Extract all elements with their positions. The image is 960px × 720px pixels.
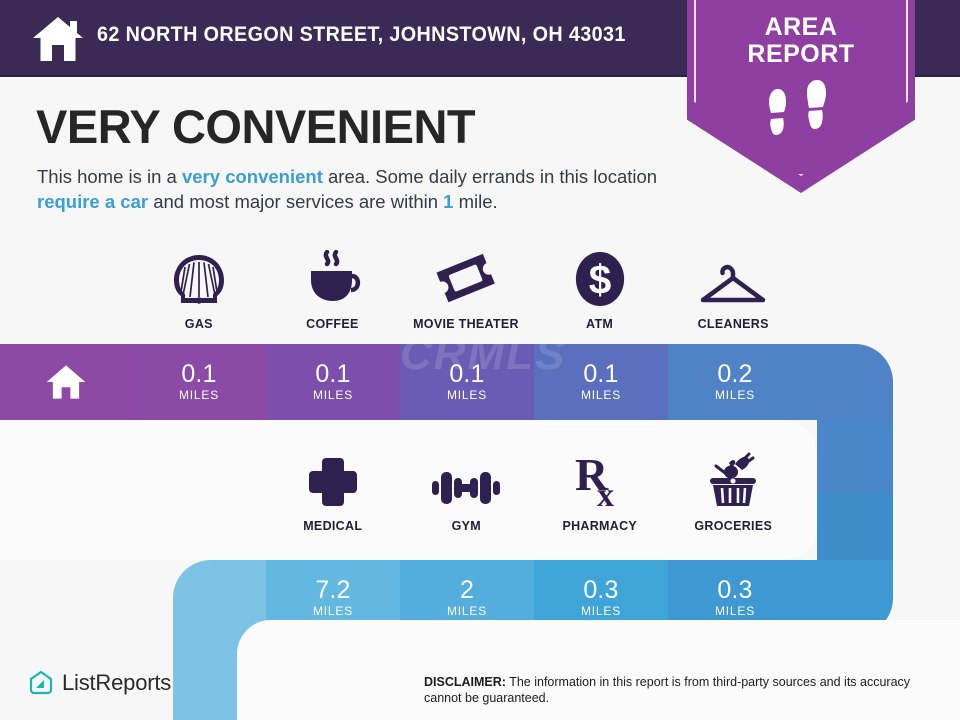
area-report-badge: AREA REPORT <box>687 0 915 193</box>
category-label: MEDICAL <box>303 519 362 533</box>
page-title: VERY CONVENIENT <box>36 101 475 153</box>
subtitle-part-2: area. Some daily errands in this locatio… <box>323 166 657 187</box>
distance-unit: MILES <box>715 604 755 619</box>
badge-title-line2: REPORT <box>687 41 915 68</box>
distance-segment: 0.1MILES <box>534 344 668 420</box>
page-subtitle: This home is in a very convenient area. … <box>37 164 677 214</box>
disclaimer-label: DISCLAIMER: <box>424 675 506 689</box>
icon-row-secondary: MEDICAL GYM <box>266 448 800 533</box>
area-report-page: 62 NORTH OREGON STREET, JOHNSTOWN, OH 43… <box>0 0 960 720</box>
medical-cross-icon <box>305 448 361 510</box>
distance-segment: 0.1MILES <box>132 344 266 420</box>
category-groceries: GROCERIES <box>667 448 801 533</box>
category-pharmacy: R x PHARMACY <box>533 448 667 533</box>
grocery-basket-icon <box>702 448 764 510</box>
distance-segment: 0.1MILES <box>400 344 534 420</box>
category-label: GAS <box>185 317 213 331</box>
gas-shell-icon <box>171 246 227 308</box>
svg-text:$: $ <box>588 256 611 302</box>
category-label: ATM <box>586 317 613 331</box>
footer: ListReports DISCLAIMER: The information … <box>0 628 960 720</box>
category-coffee: COFFEE <box>266 246 400 331</box>
svg-text:x: x <box>597 477 614 510</box>
distance-segment: 0.1MILES <box>266 344 400 420</box>
icon-row-primary: GAS COFFEE <box>132 246 800 331</box>
category-label: GYM <box>452 519 481 533</box>
category-label: MOVIE THEATER <box>413 317 519 331</box>
subtitle-part-3: require a car <box>37 191 148 212</box>
ribbon-top-tail <box>802 344 893 420</box>
distance-unit: MILES <box>313 604 353 619</box>
distance-value: 7.2 <box>315 577 350 603</box>
listreports-logo-text: ListReports <box>62 670 171 696</box>
subtitle-part-1: very convenient <box>182 166 323 187</box>
category-label: COFFEE <box>306 317 359 331</box>
disclaimer-text: DISCLAIMER: The information in this repo… <box>424 675 924 706</box>
home-icon <box>30 11 86 67</box>
listreports-house-icon <box>28 670 54 696</box>
category-atm: $ ATM <box>533 246 667 331</box>
badge-title: AREA REPORT <box>687 14 915 68</box>
distance-unit: MILES <box>715 388 755 403</box>
category-movie-theater: MOVIE THEATER <box>399 246 533 331</box>
distance-value: 0.1 <box>315 361 350 387</box>
distance-value: 0.1 <box>449 361 484 387</box>
distance-value: 0.2 <box>717 361 752 387</box>
badge-title-line1: AREA <box>687 14 915 41</box>
distance-unit: MILES <box>447 388 487 403</box>
listreports-logo[interactable]: ListReports <box>28 670 171 696</box>
category-label: PHARMACY <box>562 519 637 533</box>
distance-segment: 0.2MILES <box>668 344 802 420</box>
subtitle-part-0: This home is in a <box>37 166 182 187</box>
dumbbell-icon <box>430 448 502 510</box>
distance-bar-primary: 0.1MILES0.1MILES0.1MILES0.1MILES0.2MILES <box>0 344 893 420</box>
distance-value: 0.1 <box>583 361 618 387</box>
category-cleaners: CLEANERS <box>666 246 800 331</box>
distance-value: 0.1 <box>181 361 216 387</box>
category-gas: GAS <box>132 246 266 331</box>
distance-unit: MILES <box>313 388 353 403</box>
distance-value: 0.3 <box>583 577 618 603</box>
distance-unit: MILES <box>581 388 621 403</box>
home-origin-segment <box>0 344 132 420</box>
category-medical: MEDICAL <box>266 448 400 533</box>
subtitle-part-6: mile. <box>453 191 497 212</box>
distance-unit: MILES <box>447 604 487 619</box>
ribbon-connector-lower <box>817 494 893 562</box>
home-icon <box>45 361 87 403</box>
dollar-atm-icon: $ <box>573 246 627 308</box>
category-label: CLEANERS <box>698 317 769 331</box>
distance-unit: MILES <box>179 388 219 403</box>
category-gym: GYM <box>400 448 534 533</box>
distance-value: 0.3 <box>717 577 752 603</box>
rx-icon: R x <box>573 448 627 510</box>
movie-ticket-icon <box>435 246 497 308</box>
category-label: GROCERIES <box>694 519 772 533</box>
footprints-icon <box>763 80 841 144</box>
subtitle-part-4: and most major services are within <box>148 191 443 212</box>
distance-unit: MILES <box>581 604 621 619</box>
property-address: 62 NORTH OREGON STREET, JOHNSTOWN, OH 43… <box>97 22 626 47</box>
coffee-cup-icon <box>303 246 361 308</box>
distance-value: 2 <box>460 577 474 603</box>
clothes-hanger-icon <box>697 246 769 308</box>
subtitle-part-5: 1 <box>443 191 453 212</box>
